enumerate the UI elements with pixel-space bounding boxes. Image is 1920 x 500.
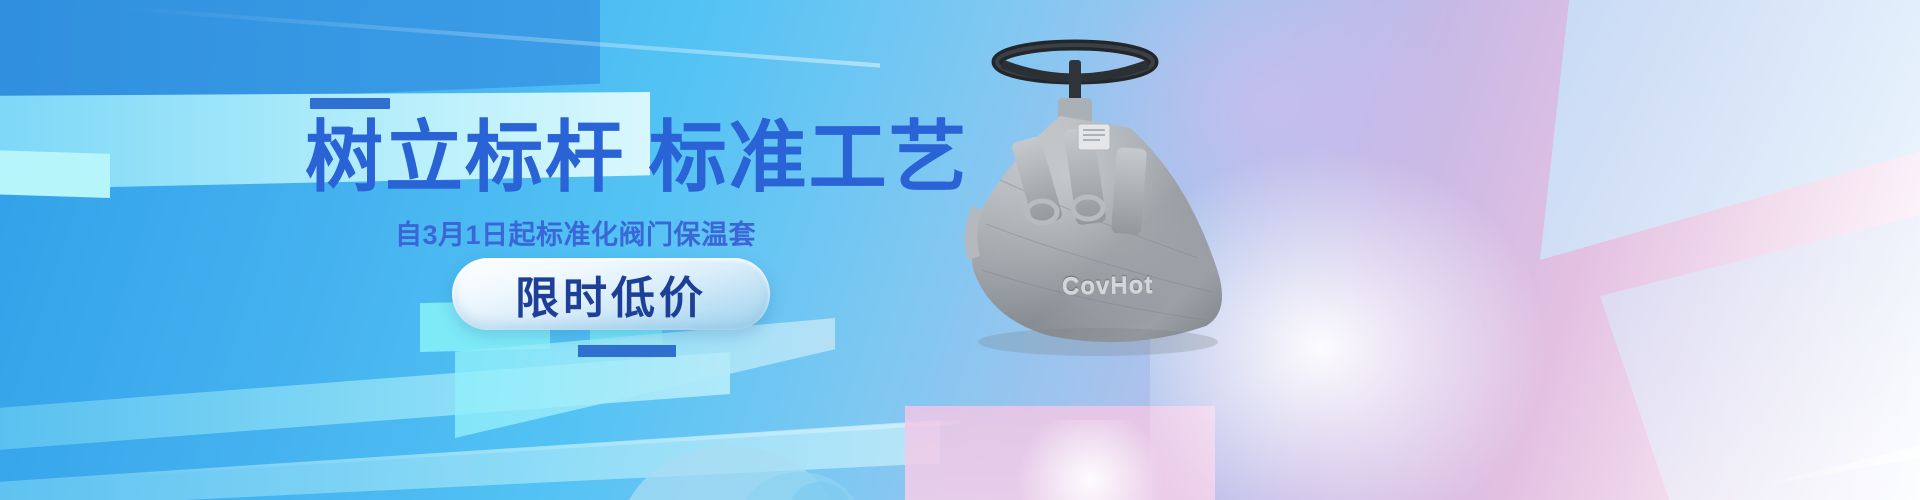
product-label-tag — [1078, 124, 1110, 150]
banner-text-block: 树立标杆 标准工艺 自3月1日起标准化阀门保温套 限时低价 — [0, 0, 1000, 500]
product-image-valve-jacket — [930, 20, 1270, 380]
valve-jacket-illustration — [930, 20, 1270, 380]
banner-subtitle: 自3月1日起标准化阀门保温套 — [395, 213, 1015, 252]
product-shadow — [978, 328, 1218, 356]
cta-button-label: 限时低价 — [515, 262, 707, 326]
decor-diagonal-right-bottom — [1600, 200, 1920, 500]
valve-handwheel-icon — [997, 45, 1153, 106]
headline-accent-tick — [310, 98, 390, 109]
banner-headline: 树立标杆 标准工艺 — [305, 118, 945, 196]
cta-underline-bar — [578, 345, 676, 357]
promo-banner: 树立标杆 标准工艺 自3月1日起标准化阀门保温套 限时低价 — [0, 0, 1920, 500]
cta-button[interactable]: 限时低价 — [452, 258, 770, 330]
decor-center-glow — [1000, 420, 1180, 500]
decor-diagonal-right-top — [1540, 0, 1920, 260]
product-brand-emboss: CovHot — [1062, 271, 1154, 301]
